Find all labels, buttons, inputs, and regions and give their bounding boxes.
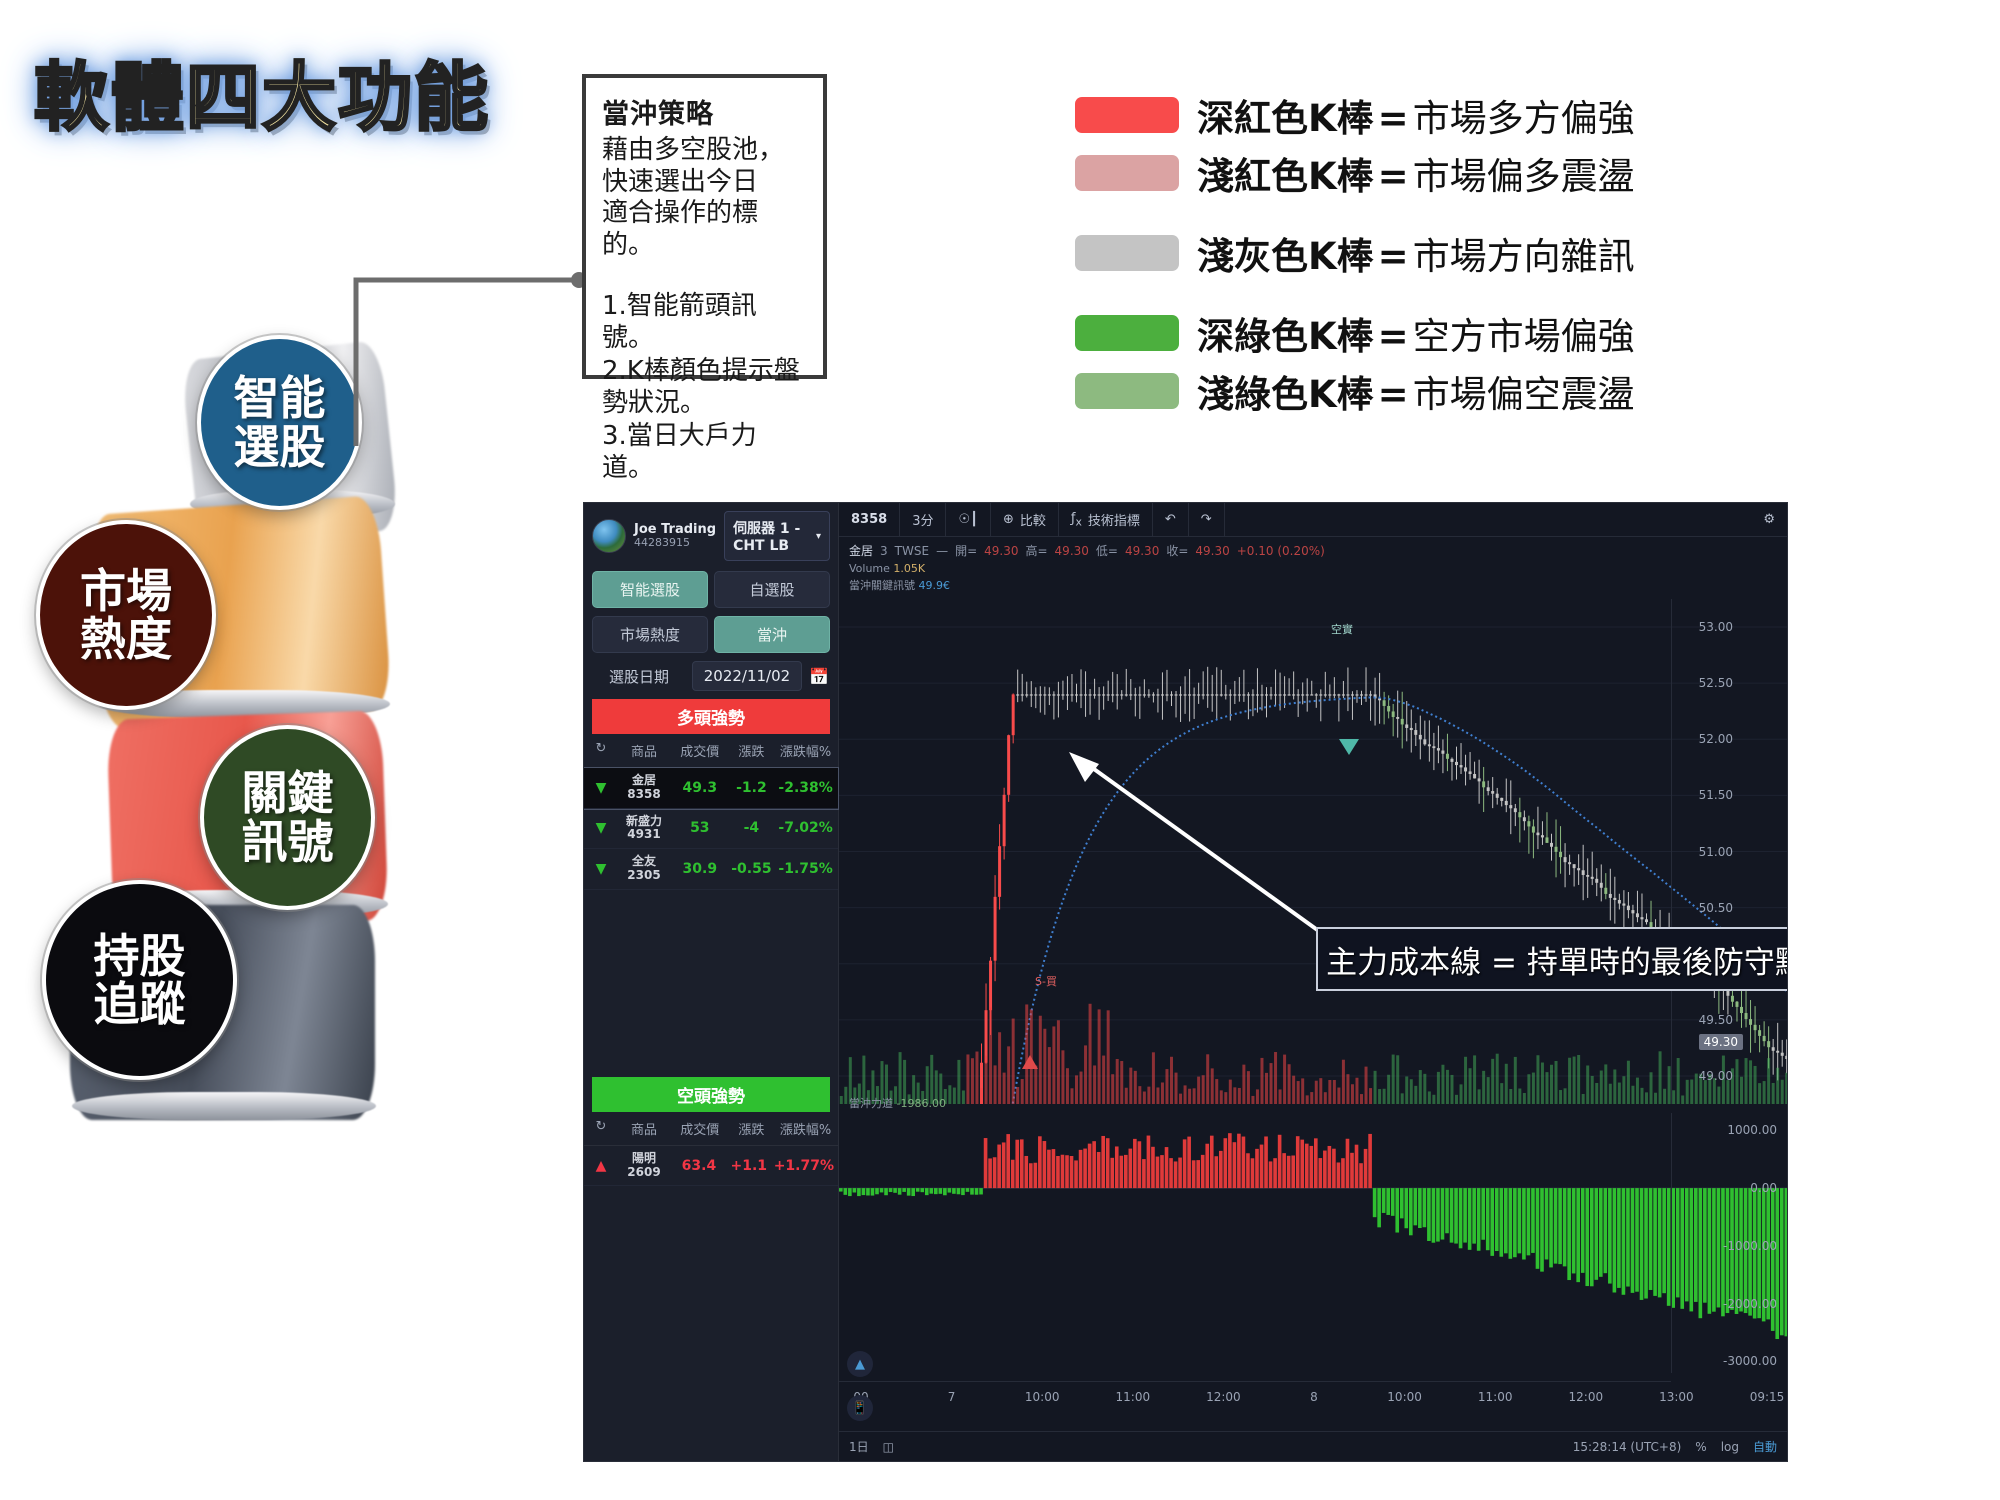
callout-item-1: 1.智能箭頭訊號。 — [602, 290, 807, 355]
chevron-down-icon: ▾ — [816, 531, 821, 542]
status-auto-toggle[interactable]: 自動 — [1753, 1438, 1777, 1455]
page-title-text: 軟體四大功能 — [34, 55, 490, 141]
long-table-empty-space — [584, 890, 838, 1075]
bubble-track-line2: 追蹤 — [94, 980, 186, 1028]
quote-high: 49.30 — [1055, 544, 1089, 558]
candlestick-icon[interactable]: ☉┃ — [946, 503, 990, 536]
toolbar-compare-label: 比較 — [1020, 510, 1046, 529]
legend-eq-light-gray: = — [1374, 235, 1413, 278]
bubble-key-line2: 訊號 — [242, 818, 334, 866]
date-filter-input[interactable]: 2022/11/02 — [692, 661, 802, 691]
avatar — [592, 519, 626, 553]
col-change: 漲跌 — [726, 741, 778, 760]
legend-meaning-light-green: 市場偏空震盪 — [1413, 373, 1635, 416]
power-axis[interactable]: 1000.000.00-1000.00-2000.00-3000.00 — [1671, 1113, 1787, 1373]
legend-key-light-gray: 淺灰色K棒 — [1197, 235, 1374, 278]
date-filter-label: 選股日期 — [592, 666, 686, 687]
legend-eq-deep-red: = — [1374, 97, 1413, 140]
row-price: 30.9 — [674, 861, 726, 877]
volume-label: Volume — [849, 562, 890, 575]
toolbar-compare[interactable]: ⊕ 比較 — [991, 503, 1059, 536]
quote-interval: 3 — [880, 544, 888, 558]
tab-market-heat[interactable]: 市場熱度 — [592, 616, 708, 653]
price-axis-tick: 49.00 — [1699, 1069, 1733, 1083]
price-axis-tick: 52.50 — [1699, 676, 1733, 690]
feature-bubble-key-signal[interactable]: 關鍵 訊號 — [200, 725, 375, 910]
power-axis-tick: -1000.00 — [1723, 1239, 1777, 1253]
tab-day-trade[interactable]: 當沖 — [714, 616, 830, 653]
row-direction-icon: ▼ — [588, 820, 614, 836]
volume-line: Volume 1.05K — [839, 561, 1787, 576]
annotation-box: 主力成本線 = 持單時的最後防守點 — [1316, 927, 1788, 991]
account-header: Joe Trading 44283915 伺服器 1 - CHT LB ▾ — [584, 503, 838, 567]
legend-row-deep-red: 深紅色K棒=市場多方偏強 — [1075, 88, 1695, 142]
row-product-code: 2305 — [614, 869, 674, 883]
row-change-pct: -7.02% — [777, 820, 834, 836]
col-change-pct: 漲跌幅% — [777, 1119, 834, 1138]
legend-swatch-light-green — [1075, 373, 1179, 409]
row-product: 陽明 2609 — [614, 1152, 674, 1180]
time-axis-tick: 13:00 — [1659, 1390, 1694, 1404]
row-direction-icon: ▼ — [588, 861, 614, 877]
toolbar-indicators[interactable]: ƒx 技術指標 — [1059, 503, 1153, 536]
time-axis-tick: 7 — [948, 1390, 956, 1404]
toolbar-indicators-label: 技術指標 — [1088, 510, 1140, 529]
row-price: 49.3 — [674, 780, 726, 796]
calendar-icon[interactable]: 📅 — [808, 667, 830, 686]
layout-icon[interactable]: ◫ — [883, 1440, 894, 1454]
col-change: 漲跌 — [726, 1119, 778, 1138]
signal-line: 當沖關鍵訊號 49.9€ — [839, 576, 1787, 597]
server-label: 伺服器 1 - CHT LB — [733, 518, 810, 554]
row-change: -1.2 — [726, 780, 778, 796]
callout-item-3: 3.當日大戶力道。 — [602, 420, 807, 485]
time-axis-tick: 11:00 — [1478, 1390, 1513, 1404]
signal-label: 當沖關鍵訊號 — [849, 579, 915, 592]
legend-swatch-deep-green — [1075, 315, 1179, 351]
power-axis-tick: -2000.00 — [1723, 1297, 1777, 1311]
status-right-group: 15:28:14 (UTC+8) % log 自動 — [1573, 1438, 1777, 1455]
quote-low: 49.30 — [1125, 544, 1159, 558]
stock-picker-panel: Joe Trading 44283915 伺服器 1 - CHT LB ▾ 智能… — [584, 503, 839, 1461]
row-product: 新盛力 4931 — [614, 815, 674, 843]
row-product: 全友 2305 — [614, 855, 674, 883]
legend-label-deep-green: 深綠色K棒=空方市場偏強 — [1197, 306, 1635, 360]
price-axis-tick: 49.50 — [1699, 1013, 1733, 1027]
current-price-badge: 49.30 — [1699, 1034, 1743, 1050]
price-axis[interactable]: 53.0052.5052.0051.5051.0050.5050.0049.50… — [1671, 599, 1787, 1104]
legend-row-light-green: 淺綠色K棒=市場偏空震盪 — [1075, 364, 1695, 418]
row-product-name: 陽明 — [614, 1152, 674, 1166]
legend-meaning-deep-green: 空方市場偏強 — [1413, 315, 1635, 358]
long-table-header: ↻ 商品 成交價 漲跌 漲跌幅% — [584, 734, 838, 768]
candle-color-legend: 深紅色K棒=市場多方偏強 淺紅色K棒=市場偏多震盪 淺灰色K棒=市場方向雜訊 深… — [1075, 88, 1695, 422]
undo-icon[interactable]: ↶ — [1153, 503, 1189, 536]
legend-label-deep-red: 深紅色K棒=市場多方偏強 — [1197, 88, 1635, 142]
chart-area: 8358 3分 ☉┃ ⊕ 比較 ƒx 技術指標 ↶ ↷ ⚙ 金居 3 TWSE … — [839, 503, 1787, 1461]
quote-open-label: 開= — [955, 542, 977, 559]
quote-line: 金居 3 TWSE — 開= 49.30 高= 49.30 低= 49.30 收… — [839, 537, 1787, 561]
col-product: 商品 — [614, 1119, 674, 1138]
quote-close-label: 收= — [1166, 542, 1188, 559]
time-axis-tick: 8 — [1310, 1390, 1318, 1404]
legend-eq-light-red: = — [1374, 155, 1413, 198]
sell-marker-label: 空實 — [1331, 621, 1353, 637]
status-log-toggle[interactable]: log — [1721, 1440, 1739, 1454]
snapshot-icon[interactable]: ▲ — [847, 1351, 873, 1377]
chart-toolbar: 8358 3分 ☉┃ ⊕ 比較 ƒx 技術指標 ↶ ↷ ⚙ — [839, 503, 1787, 537]
gear-icon[interactable]: ⚙ — [1751, 512, 1787, 527]
feature-bubble-smart-stock-picking[interactable]: 智能 選股 — [197, 335, 362, 510]
long-section-banner: 多頭強勢 — [592, 699, 830, 734]
time-axis-tick: 09:15 — [1750, 1390, 1785, 1404]
price-axis-tick: 51.00 — [1699, 845, 1733, 859]
bubble-smart-line1: 智能 — [234, 374, 326, 422]
bubble-heat-line1: 市場 — [80, 567, 172, 615]
row-product-name: 金居 — [614, 774, 674, 788]
col-price: 成交價 — [674, 741, 726, 760]
legend-row-light-red: 淺紅色K棒=市場偏多震盪 — [1075, 146, 1695, 200]
row-product-code: 4931 — [614, 828, 674, 842]
price-plot — [839, 599, 1788, 1104]
legend-label-light-green: 淺綠色K棒=市場偏空震盪 — [1197, 364, 1635, 418]
legend-meaning-light-gray: 市場方向雜訊 — [1413, 235, 1635, 278]
legend-meaning-light-red: 市場偏多震盪 — [1413, 155, 1635, 198]
table-row[interactable]: ▼ 全友 2305 30.9 -0.55 -1.75% — [584, 849, 838, 890]
feature-bubble-holdings-tracking[interactable]: 持股 追蹤 — [42, 880, 237, 1080]
legend-label-light-gray: 淺灰色K棒=市場方向雜訊 — [1197, 226, 1635, 280]
tabs-row-2: 市場熱度 當沖 — [584, 612, 838, 657]
mobile-icon[interactable]: 📱 — [847, 1395, 873, 1421]
power-axis-tick: 0.00 — [1750, 1181, 1777, 1195]
legend-swatch-light-gray — [1075, 235, 1179, 271]
power-axis-tick: -3000.00 — [1723, 1354, 1777, 1368]
signal-value: 49.9€ — [919, 579, 951, 592]
quote-high-label: 高= — [1025, 542, 1047, 559]
table-row[interactable]: ▲ 陽明 2609 63.4 +1.1 +1.77% — [584, 1146, 838, 1187]
callout-title: 當沖策略 — [602, 92, 807, 131]
account-number: 44283915 — [634, 537, 716, 549]
refresh-icon[interactable]: ↻ — [588, 1119, 614, 1138]
strategy-callout-box: 當沖策略 藉由多空股池，快速選出今日 適合操作的標的。 1.智能箭頭訊號。 2.… — [582, 74, 827, 379]
legend-row-deep-green: 深綠色K棒=空方市場偏強 — [1075, 306, 1695, 360]
callout-item-2: 2.K棒顏色提示盤勢狀況。 — [602, 355, 807, 420]
time-axis[interactable]: 00710:0011:0012:00810:0011:0012:0013:000… — [839, 1381, 1671, 1411]
time-axis-tick: 12:00 — [1569, 1390, 1604, 1404]
bubble-heat-line2: 熱度 — [80, 615, 172, 663]
quote-close: 49.30 — [1195, 544, 1229, 558]
power-plot — [839, 1113, 1788, 1373]
legend-swatch-deep-red — [1075, 97, 1179, 133]
legend-label-light-red: 淺紅色K棒=市場偏多震盪 — [1197, 146, 1635, 200]
redo-icon[interactable]: ↷ — [1189, 503, 1225, 536]
row-change: +1.1 — [724, 1158, 774, 1174]
legend-eq-light-green: = — [1374, 373, 1413, 416]
row-direction-icon: ▼ — [588, 780, 614, 796]
server-selector[interactable]: 伺服器 1 - CHT LB ▾ — [724, 511, 830, 561]
stack-rim-4 — [72, 1092, 376, 1120]
row-direction-icon: ▲ — [588, 1158, 614, 1174]
quote-minus-icon[interactable]: — — [936, 544, 948, 558]
row-change: -0.55 — [726, 861, 778, 877]
row-change-pct: +1.77% — [774, 1158, 834, 1174]
row-product-name: 新盛力 — [614, 815, 674, 829]
row-change-pct: -2.38% — [777, 780, 834, 796]
status-range[interactable]: 1日 — [849, 1438, 869, 1455]
row-product-code: 2609 — [614, 1166, 674, 1180]
tab-smart-stock-picking[interactable]: 智能選股 — [592, 571, 708, 608]
price-axis-tick: 53.00 — [1699, 620, 1733, 634]
status-time: 15:28:14 (UTC+8) — [1573, 1440, 1682, 1454]
legend-row-light-gray: 淺灰色K棒=市場方向雜訊 — [1075, 226, 1695, 280]
row-change-pct: -1.75% — [777, 861, 834, 877]
time-axis-tick: 11:00 — [1116, 1390, 1151, 1404]
legend-eq-deep-green: = — [1374, 315, 1413, 358]
row-product: 金居 8358 — [614, 774, 674, 802]
bubble-key-line1: 關鍵 — [242, 769, 334, 817]
col-change-pct: 漲跌幅% — [777, 741, 834, 760]
legend-key-deep-red: 深紅色K棒 — [1197, 97, 1374, 140]
chart-status-bar: 1日 ◫ 15:28:14 (UTC+8) % log 自動 — [839, 1431, 1787, 1461]
row-change: -4 — [726, 820, 778, 836]
tab-watchlist[interactable]: 自選股 — [714, 571, 830, 608]
row-product-code: 8358 — [614, 788, 674, 802]
time-axis-tick: 10:00 — [1387, 1390, 1422, 1404]
account-identity: Joe Trading 44283915 — [634, 523, 716, 549]
callout-body-line1: 藉由多空股池，快速選出今日 — [602, 135, 807, 198]
price-axis-tick: 50.50 — [1699, 901, 1733, 915]
power-line-label: 當沖力道 -1986.00 — [849, 1095, 946, 1111]
time-axis-tick: 12:00 — [1206, 1390, 1241, 1404]
row-product-name: 全友 — [614, 855, 674, 869]
toolbar-symbol[interactable]: 8358 — [839, 503, 900, 536]
quote-low-label: 低= — [1096, 542, 1118, 559]
fx-icon: ƒx — [1071, 511, 1082, 529]
tabs-row-1: 智能選股 自選股 — [584, 567, 838, 612]
quote-name: 金居 — [849, 542, 873, 559]
toolbar-interval[interactable]: 3分 — [900, 503, 946, 536]
callout-body-line2: 適合操作的標的。 — [602, 198, 807, 261]
refresh-icon[interactable]: ↻ — [588, 741, 614, 760]
date-filter-row: 選股日期 2022/11/02 📅 — [584, 657, 838, 697]
status-percent-toggle[interactable]: % — [1695, 1440, 1706, 1454]
bubble-track-line1: 持股 — [94, 932, 186, 980]
power-label: 當沖力道 — [849, 1097, 893, 1110]
power-axis-tick: 1000.00 — [1727, 1123, 1777, 1137]
price-axis-tick: 52.00 — [1699, 732, 1733, 746]
row-price: 63.4 — [674, 1158, 724, 1174]
account-name: Joe Trading — [634, 523, 716, 537]
short-section-banner: 空頭強勢 — [592, 1077, 830, 1112]
legend-key-light-green: 淺綠色K棒 — [1197, 373, 1374, 416]
page-title: 軟體四大功能 — [34, 38, 490, 145]
row-price: 53 — [674, 820, 726, 836]
volume-value: 1.05K — [893, 562, 925, 575]
table-row[interactable]: ▼ 新盛力 4931 53 -4 -7.02% — [584, 809, 838, 850]
toolbar-spacer — [1225, 503, 1752, 536]
col-price: 成交價 — [674, 1119, 726, 1138]
buy-marker-label: S-買 — [1035, 973, 1057, 989]
legend-swatch-light-red — [1075, 155, 1179, 191]
table-row[interactable]: ▼ 金居 8358 49.3 -1.2 -2.38% — [584, 768, 838, 809]
legend-meaning-deep-red: 市場多方偏強 — [1413, 97, 1635, 140]
price-axis-tick: 51.50 — [1699, 788, 1733, 802]
bubble-smart-line2: 選股 — [234, 423, 326, 471]
quote-open: 49.30 — [984, 544, 1018, 558]
col-product: 商品 — [614, 741, 674, 760]
legend-key-deep-green: 深綠色K棒 — [1197, 315, 1374, 358]
feature-bubble-market-heat[interactable]: 市場 熱度 — [36, 520, 216, 710]
time-axis-tick: 10:00 — [1025, 1390, 1060, 1404]
callout-spacer — [602, 262, 807, 290]
legend-key-light-red: 淺紅色K棒 — [1197, 155, 1374, 198]
quote-delta: +0.10 (0.20%) — [1237, 544, 1325, 558]
short-table-header: ↻ 商品 成交價 漲跌 漲跌幅% — [584, 1112, 838, 1146]
trading-app-screenshot: Joe Trading 44283915 伺服器 1 - CHT LB ▾ 智能… — [583, 502, 1788, 1462]
quote-exchange: TWSE — [895, 544, 929, 558]
plus-circle-icon: ⊕ — [1003, 512, 1014, 527]
power-value: -1986.00 — [897, 1097, 946, 1110]
